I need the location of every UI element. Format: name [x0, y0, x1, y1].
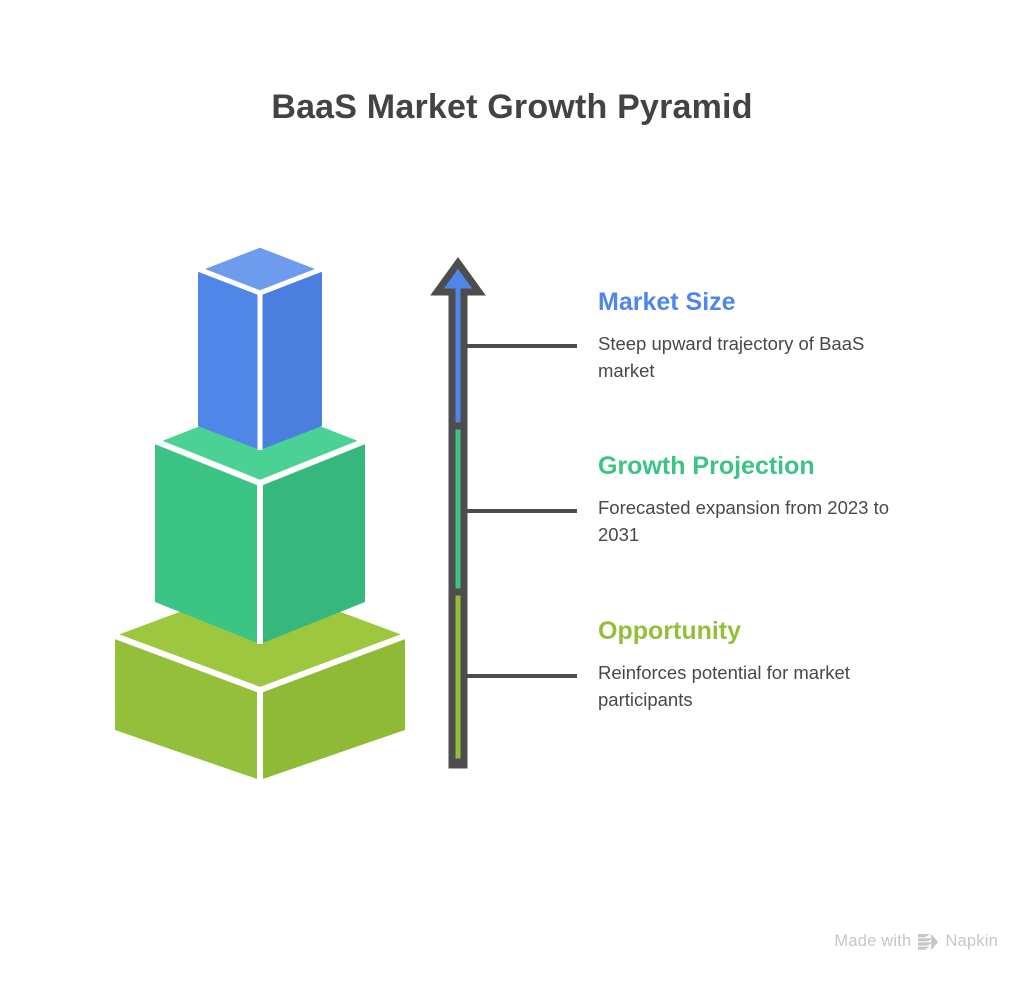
watermark-made-with-label: Made with	[834, 932, 911, 951]
legend-heading-market-size: Market Size	[598, 288, 928, 317]
blue-left-face	[198, 269, 260, 450]
legend-item-market-size[interactable]: Market Size Steep upward trajectory of B…	[598, 288, 928, 384]
watermark-brand-label: Napkin	[945, 932, 998, 951]
watermark: Made with Napkin	[834, 932, 998, 951]
top-blue-block[interactable]	[198, 245, 322, 450]
legend-description-growth-projection: Forecasted expansion from 2023 to 2031	[598, 495, 903, 549]
legend-heading-growth-projection: Growth Projection	[598, 452, 928, 481]
napkin-logo-icon	[918, 933, 938, 951]
connector-lines	[455, 250, 595, 775]
page-title: BaaS Market Growth Pyramid	[0, 88, 1024, 127]
legend-description-opportunity: Reinforces potential for market particip…	[598, 660, 903, 714]
legend-heading-opportunity: Opportunity	[598, 617, 928, 646]
infographic-canvas: BaaS Market Growth Pyramid	[0, 0, 1024, 983]
legend-item-opportunity[interactable]: Opportunity Reinforces potential for mar…	[598, 617, 928, 713]
blue-right-face	[260, 269, 322, 450]
legend-description-market-size: Steep upward trajectory of BaaS market	[598, 331, 903, 385]
legend-item-growth-projection[interactable]: Growth Projection Forecasted expansion f…	[598, 452, 928, 548]
